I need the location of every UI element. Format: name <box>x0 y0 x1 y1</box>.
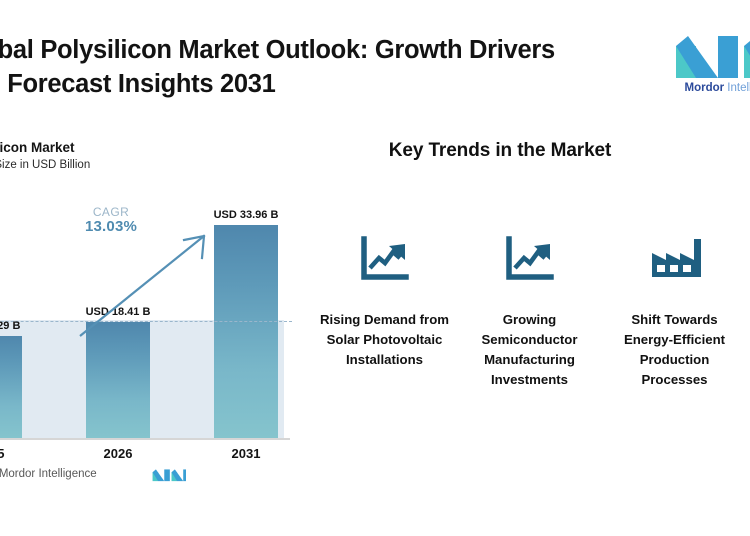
mordor-m-icon-small <box>152 467 186 483</box>
chart-panel: Polysilicon Market Market Size in USD Bi… <box>0 140 300 490</box>
mordor-m-icon <box>674 32 750 80</box>
chart-title: Polysilicon Market <box>0 140 300 157</box>
bar-2025 <box>0 336 22 438</box>
reference-dashed-line <box>0 321 292 322</box>
bar-2026 <box>86 322 150 438</box>
bar-chart-plot: USD 16.29 B USD 18.41 B USD 33.96 B CAGR… <box>0 198 286 440</box>
chart-growth-icon <box>359 236 411 284</box>
chart-footer: Source: Mordor Intelligence <box>0 468 300 488</box>
chart-baseline <box>0 438 290 440</box>
key-trends-panel: Key Trends in the Market Rising Demand f… <box>330 140 750 440</box>
brand-wordmark: Mordor Intelligence <box>674 82 750 94</box>
chart-growth-icon <box>504 236 556 284</box>
trend-label-3: Shift Towards Energy-Efficient Productio… <box>607 310 743 390</box>
cagr-label: CAGR <box>72 206 150 219</box>
chart-source-text: Source: Mordor Intelligence <box>0 468 97 480</box>
brand-logo: Mordor Intelligence <box>674 32 750 106</box>
bar-value-2025: USD 16.29 B <box>0 320 42 332</box>
bar-value-2026: USD 18.41 B <box>62 306 174 318</box>
cagr-value: 13.03% <box>72 219 150 236</box>
slide-header: Global Polysilicon Market Outlook: Growt… <box>0 0 750 122</box>
trend-item-3: Shift Towards Energy-Efficient Productio… <box>602 236 747 390</box>
factory-icon <box>649 236 701 284</box>
bar-value-2031: USD 33.96 B <box>190 209 302 221</box>
slide-canvas: Global Polysilicon Market Outlook: Growt… <box>0 0 750 536</box>
trend-label-1: Rising Demand from Solar Photovoltaic In… <box>317 310 453 370</box>
x-axis-tick-2026: 2026 <box>86 446 150 461</box>
cagr-callout: CAGR 13.03% <box>72 206 150 236</box>
trend-item-1: Rising Demand from Solar Photovoltaic In… <box>312 236 457 370</box>
bar-2031 <box>214 225 278 438</box>
trend-label-2: Growing Semiconductor Manufacturing Inve… <box>462 310 598 390</box>
key-trends-title: Key Trends in the Market <box>330 140 670 162</box>
key-trends-list: Rising Demand from Solar Photovoltaic In… <box>312 236 750 390</box>
trend-item-2: Growing Semiconductor Manufacturing Inve… <box>457 236 602 390</box>
chart-subtitle: Market Size in USD Billion <box>0 159 300 171</box>
brand-word-primary: Mordor <box>685 82 725 94</box>
page-title: Global Polysilicon Market Outlook: Growt… <box>0 34 596 102</box>
x-axis-tick-2031: 2031 <box>214 446 278 461</box>
brand-word-secondary: Intelligence <box>724 82 750 94</box>
x-axis-tick-2025: 2025 <box>0 446 22 461</box>
